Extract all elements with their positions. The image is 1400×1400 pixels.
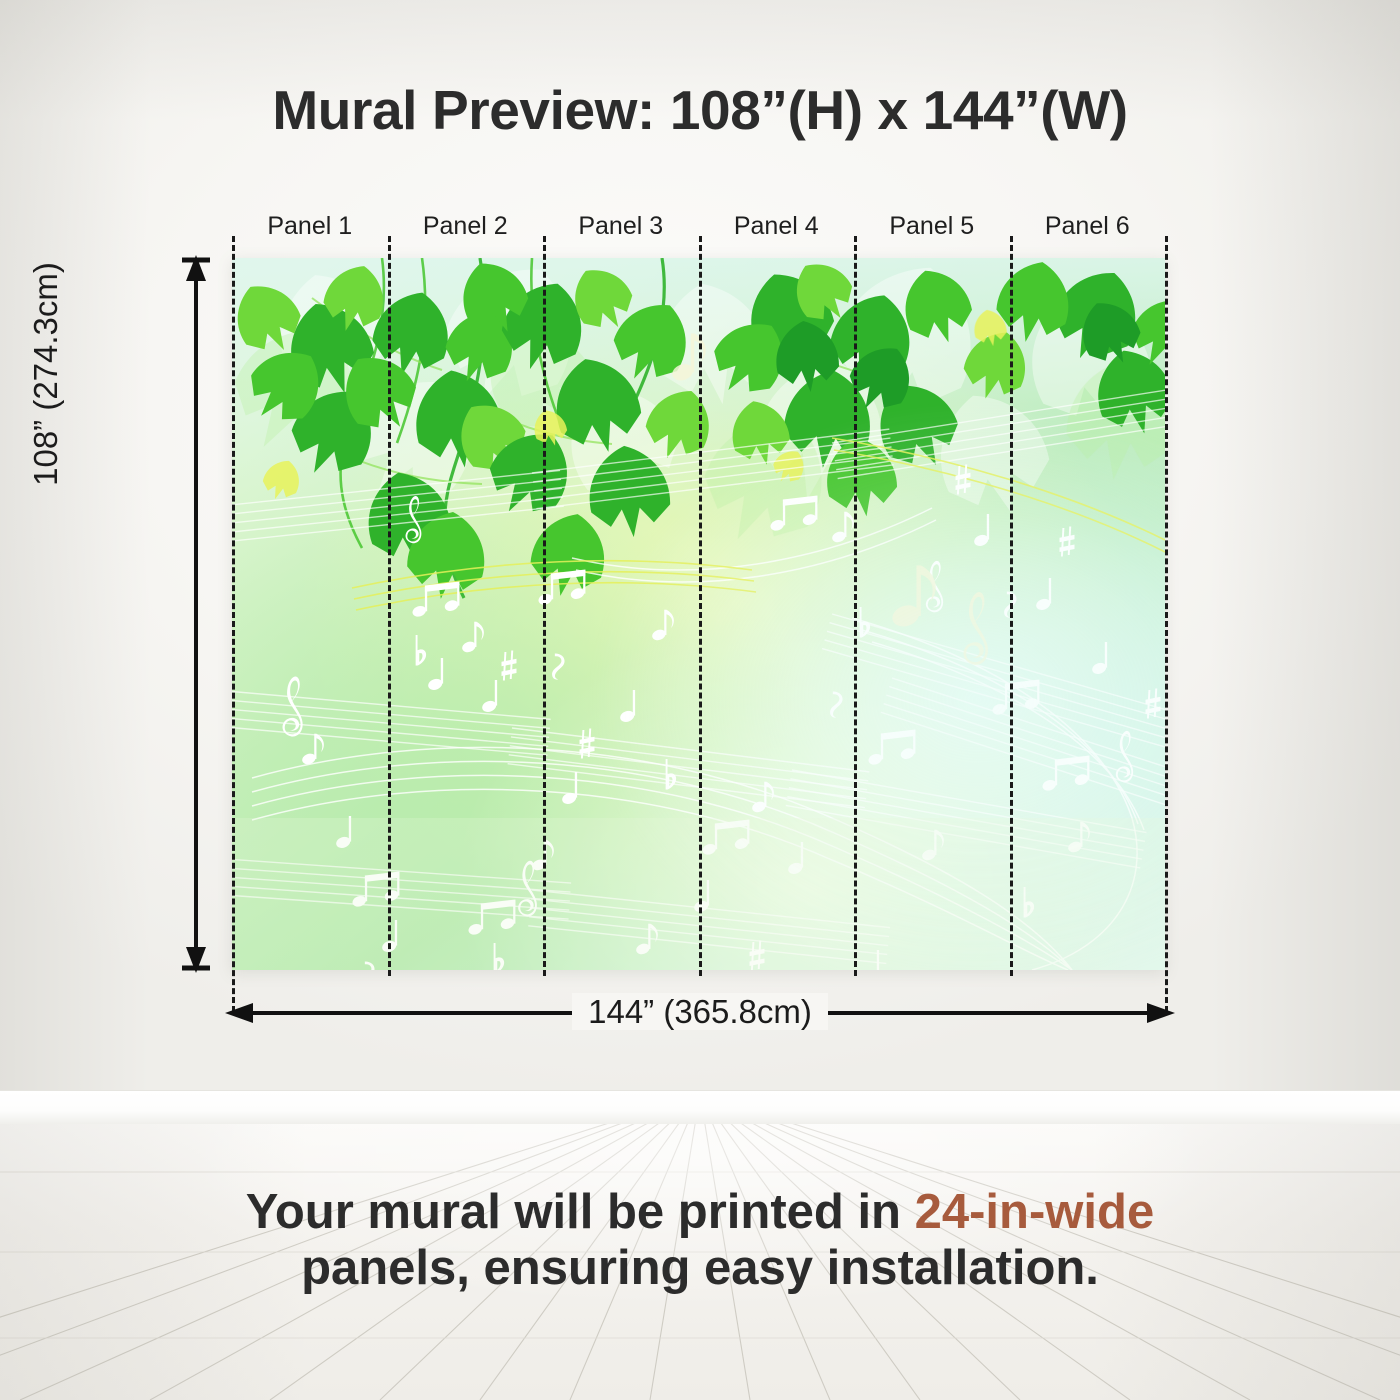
panel-label-6: Panel 6 <box>1010 212 1166 241</box>
panel-label-5: Panel 5 <box>854 212 1010 241</box>
caption-line2: panels, ensuring easy installation. <box>301 1241 1099 1295</box>
panel-divider-2 <box>543 236 546 976</box>
panel-label-3: Panel 3 <box>543 212 699 241</box>
wall-right-shading <box>1210 0 1400 1104</box>
page-title: Mural Preview: 108”(H) x 144”(W) <box>0 78 1400 142</box>
wall-left-shading <box>0 0 150 1104</box>
panel-label-1: Panel 1 <box>232 212 388 241</box>
mural-edge-right <box>1165 236 1168 1012</box>
panel-label-4: Panel 4 <box>699 212 855 241</box>
mural-edge-left <box>232 236 235 1012</box>
height-dimension-label: 108” (274.3cm) <box>27 224 65 524</box>
panel-label-2: Panel 2 <box>388 212 544 241</box>
baseboard <box>0 1090 1400 1127</box>
height-dimension-arrow <box>173 255 219 973</box>
caption-line1-prefix: Your mural will be printed in <box>246 1185 915 1239</box>
mural-preview-scene: Mural Preview: 108”(H) x 144”(W) Panel 1… <box>0 0 1400 1400</box>
width-dimension-label: 144” (365.8cm) <box>0 993 1400 1031</box>
panel-divider-3 <box>699 236 702 976</box>
panel-divider-5 <box>1010 236 1013 976</box>
panel-divider-4 <box>854 236 857 976</box>
footer-caption: Your mural will be printed in 24-in-wide… <box>90 1185 1310 1297</box>
panel-divider-1 <box>388 236 391 976</box>
caption-accent: 24-in-wide <box>915 1185 1155 1239</box>
width-dimension-text: 144” (365.8cm) <box>572 993 828 1030</box>
